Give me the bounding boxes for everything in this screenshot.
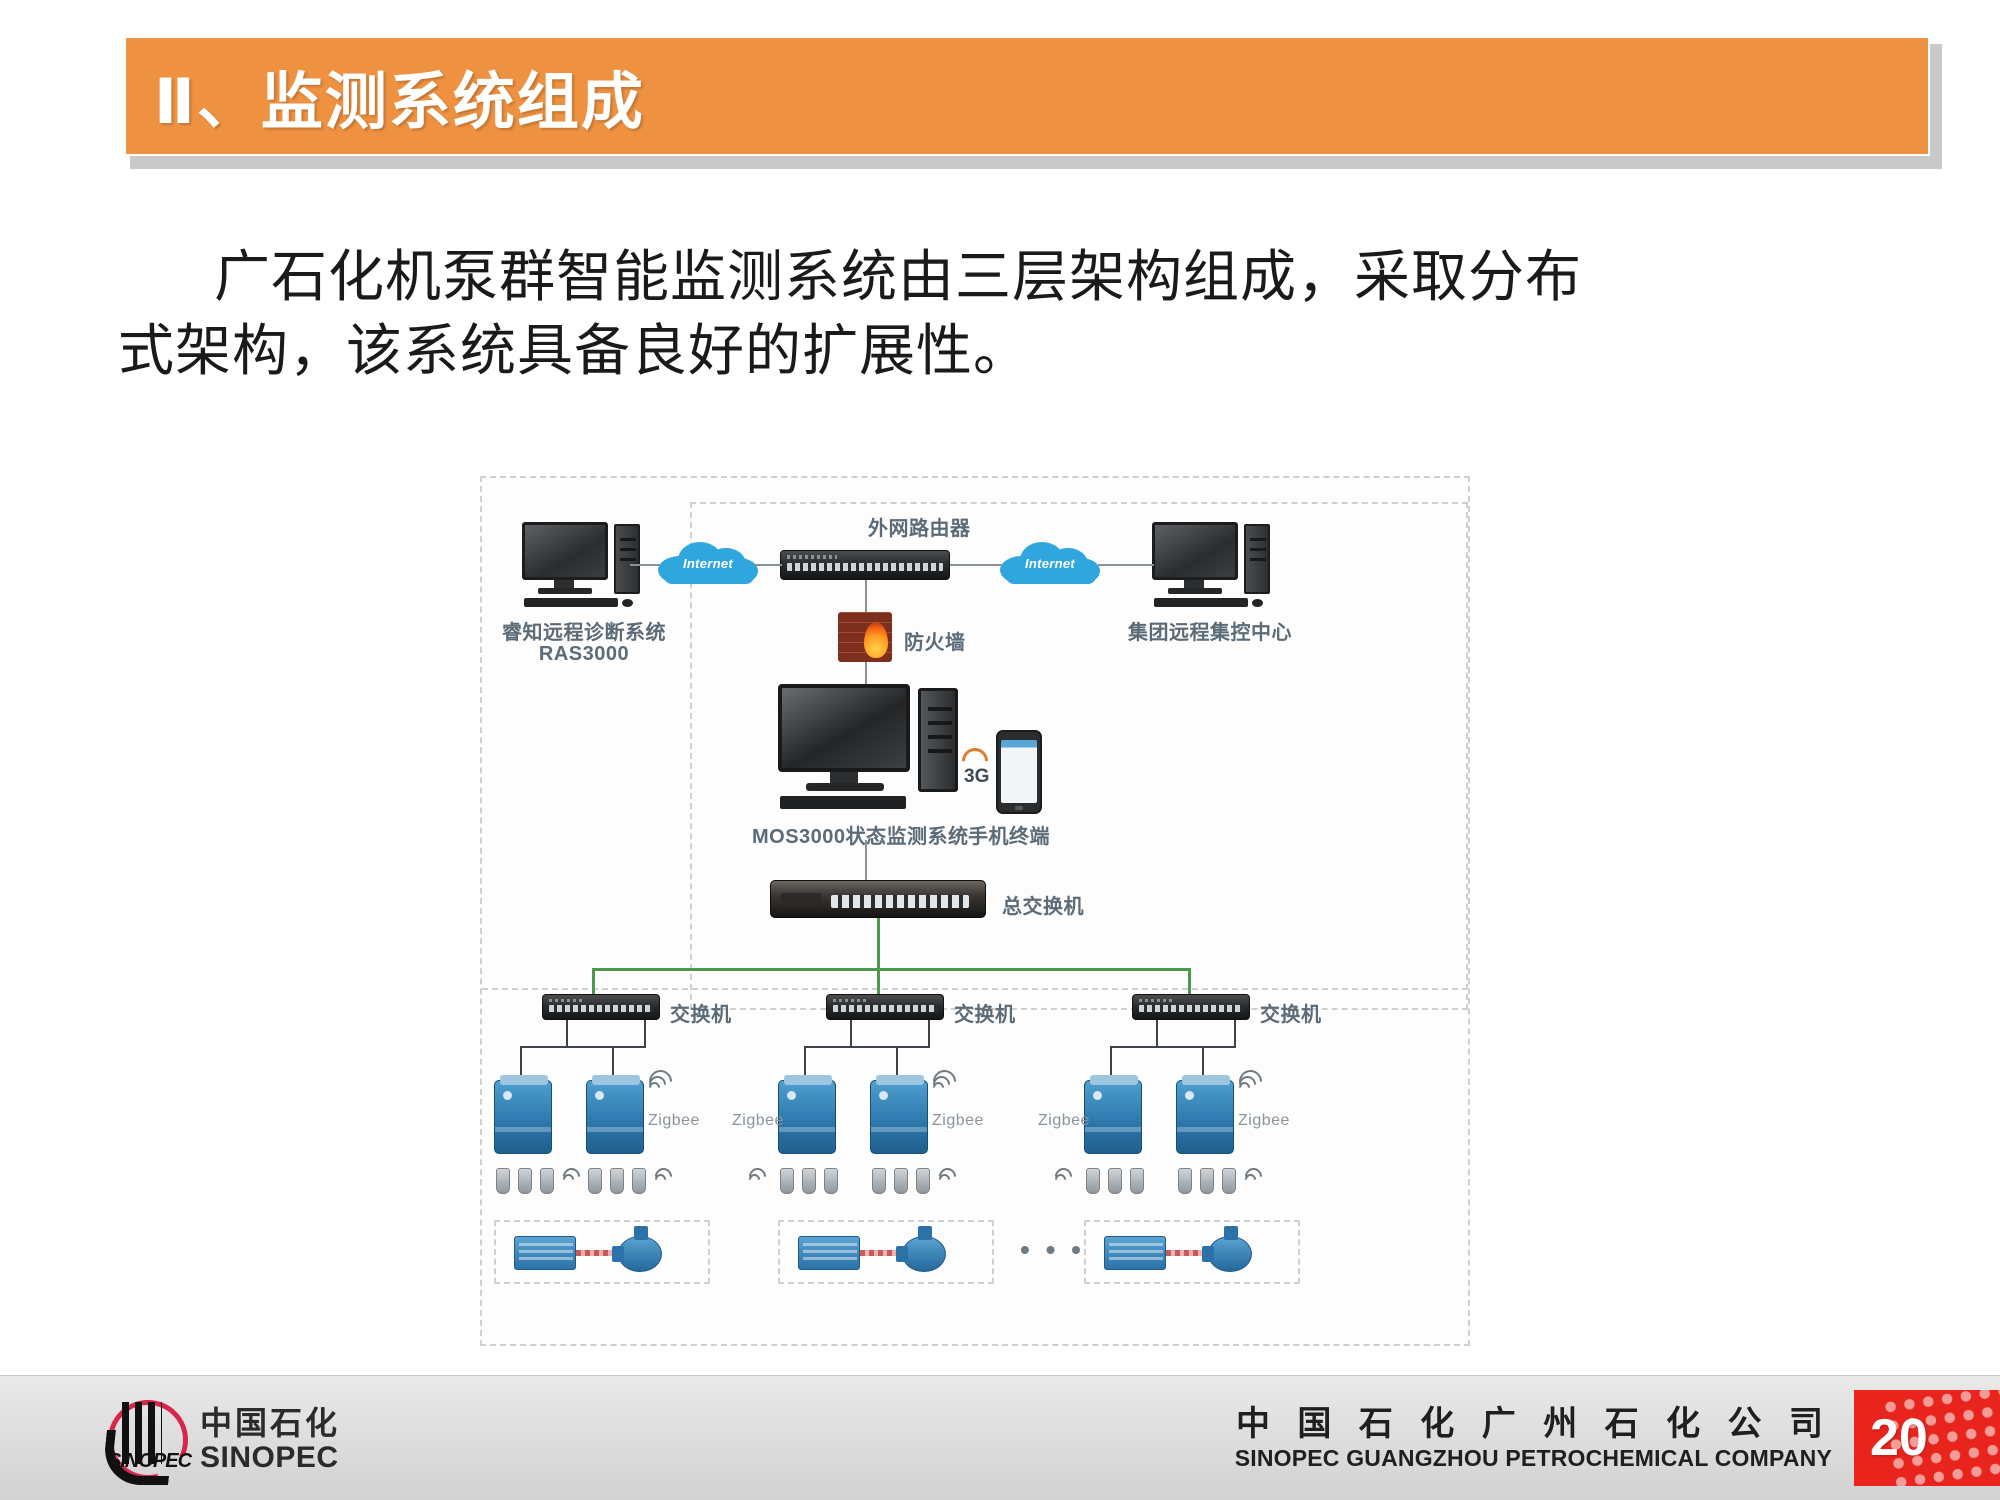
wifi-signal-icon: [748, 1166, 768, 1186]
vibration-sensor-icon: [1108, 1168, 1122, 1194]
vibration-sensor-icon: [872, 1168, 886, 1194]
label-zigbee-1: Zigbee: [648, 1112, 700, 1130]
label-branch-switch-1: 交换机: [670, 998, 732, 1027]
wifi-signal-icon: [1054, 1166, 1074, 1186]
internet-cloud-right-icon: Internet: [1000, 538, 1100, 584]
vibration-sensor-icon: [1130, 1168, 1144, 1194]
body-line-2: 式架构，该系统具备良好的扩展性。: [118, 319, 1030, 382]
sensor-gateway-2-icon: [586, 1080, 644, 1154]
sinopec-logo-icon: SINOPEC: [96, 1396, 188, 1484]
pump-shaft-icon: [576, 1250, 616, 1256]
pump-casing-icon: [1202, 1232, 1258, 1276]
computer-tower: [918, 688, 958, 792]
computer-tower: [1244, 524, 1270, 594]
body-line-1: 广石化机泵群智能监测系统由三层架构组成，采取分布: [214, 245, 1582, 308]
branch-link-3: [1188, 968, 1191, 996]
wifi-signal-icon: [654, 1166, 674, 1186]
monitor-base: [1168, 588, 1222, 594]
vibration-sensor-icon: [632, 1168, 646, 1194]
sensor-gateway-1-icon: [494, 1080, 552, 1154]
pump-casing-icon: [896, 1232, 952, 1276]
company-name-cn: 中 国 石 化 广 州 石 化 公 司: [1235, 1404, 1832, 1445]
switch2-node1-link: [804, 1046, 852, 1048]
pump-casing-icon: [612, 1232, 668, 1276]
mobile-phone-icon: [996, 730, 1042, 814]
wifi-signal-icon: [1238, 1074, 1258, 1094]
vibration-sensor-icon: [540, 1168, 554, 1194]
sensor-gateway-4-icon: [870, 1080, 928, 1154]
vibration-sensor-icon: [780, 1168, 794, 1194]
vibration-sensor-icon: [1178, 1168, 1192, 1194]
trunk-vertical-link: [877, 918, 880, 968]
branch-switch-3-icon: [1132, 994, 1250, 1020]
keyboard-icon: [780, 796, 906, 809]
branch-link-1: [592, 968, 595, 996]
monitor-screen: [522, 522, 608, 580]
label-zigbee-3: Zigbee: [932, 1112, 984, 1130]
monitor-screen: [778, 684, 910, 772]
firewall-icon: [838, 612, 892, 662]
wifi-signal-icon: [938, 1166, 958, 1186]
computer-tower: [614, 524, 640, 594]
wifi-signal-icon: [648, 1074, 668, 1094]
sinopec-brand-logo: SINOPEC 中国石化 SINOPEC: [96, 1392, 456, 1488]
pump-motor-icon: [798, 1236, 860, 1270]
main-switch-icon: [770, 880, 986, 918]
sinopec-logo-wordmark: SINOPEC: [108, 1450, 186, 1473]
mouse-icon: [622, 599, 633, 607]
vibration-sensor-icon: [496, 1168, 510, 1194]
trunk-horizontal-link: [592, 968, 1190, 971]
branch-link-2: [877, 968, 880, 996]
wifi-signal-icon: [932, 1074, 952, 1094]
company-name-block: 中 国 石 化 广 州 石 化 公 司 SINOPEC GUANGZHOU PE…: [1235, 1390, 1854, 1486]
phone-screen: [1001, 740, 1037, 803]
vibration-sensor-icon: [518, 1168, 532, 1194]
label-mobile-terminal: 手机终端: [968, 820, 1050, 849]
switch1-node1-link: [520, 1046, 568, 1048]
link-cloud-left-router: [754, 564, 782, 566]
footer-right-block: 中 国 石 化 广 州 石 化 公 司 SINOPEC GUANGZHOU PE…: [1235, 1390, 2000, 1486]
keyboard-icon: [1154, 598, 1248, 607]
branch-switch-1-icon: [542, 994, 660, 1020]
switch1-right-drop: [644, 1020, 646, 1048]
vibration-sensor-icon: [1086, 1168, 1100, 1194]
sensor-gateway-5-icon: [1084, 1080, 1142, 1154]
switch3-right-drop: [1234, 1020, 1236, 1048]
monitor-base: [538, 588, 592, 594]
label-3g: 3G: [964, 766, 989, 788]
link-cloud-right-pc: [1098, 564, 1154, 566]
pump-motor-icon: [1104, 1236, 1166, 1270]
phone-home-button: [1015, 806, 1023, 810]
label-zigbee-4: Zigbee: [1038, 1112, 1090, 1130]
link-router-cloud-right: [950, 564, 1002, 566]
label-internet-left: Internet: [658, 556, 758, 571]
system-architecture-diagram: 睿知远程诊断系统 RAS3000 Internet 外网路由器 Internet…: [480, 476, 1470, 1346]
monitor-screen: [1152, 522, 1238, 580]
label-ras3000-line1: 睿知远程诊断系统: [502, 616, 666, 645]
vibration-sensor-icon: [1222, 1168, 1236, 1194]
page-number-badge: 20: [1854, 1390, 2000, 1486]
switch3-node1-link: [1110, 1046, 1158, 1048]
wifi-signal-icon: [1244, 1166, 1264, 1186]
monitor-base: [806, 783, 884, 791]
label-firewall: 防火墙: [904, 626, 966, 655]
ellipsis-more-units: • • •: [1020, 1234, 1085, 1266]
wifi-signal-icon: [562, 1166, 582, 1186]
pump-unit-2: [778, 1220, 994, 1284]
label-internet-right: Internet: [1000, 556, 1100, 571]
page-title: Ⅱ、监测系统组成: [154, 51, 645, 141]
link-pc-left-cloud: [630, 564, 660, 566]
pump-unit-1: [494, 1220, 710, 1284]
title-banner: Ⅱ、监测系统组成: [124, 36, 1930, 156]
vibration-sensor-icon: [824, 1168, 838, 1194]
pump-motor-icon: [514, 1236, 576, 1270]
label-external-router: 外网路由器: [868, 512, 971, 541]
label-branch-switch-3: 交换机: [1260, 998, 1322, 1027]
switch2-left-drop: [850, 1020, 852, 1048]
mouse-icon: [1252, 599, 1263, 607]
pump-shaft-icon: [860, 1250, 900, 1256]
switch1-left-drop: [566, 1020, 568, 1048]
slide-title-banner: Ⅱ、监测系统组成: [124, 36, 1936, 161]
label-main-switch: 总交换机: [1002, 890, 1084, 919]
brand-text: 中国石化 SINOPEC: [200, 1406, 340, 1474]
switch1-bus: [566, 1046, 646, 1048]
sensor-gateway-6-icon: [1176, 1080, 1234, 1154]
diagram-lower-boundary: [482, 988, 1468, 1344]
brand-name-en: SINOPEC: [200, 1441, 340, 1474]
vibration-sensor-icon: [588, 1168, 602, 1194]
label-zigbee-5: Zigbee: [1238, 1112, 1290, 1130]
vibration-sensor-icon: [802, 1168, 816, 1194]
slide-footer: SINOPEC 中国石化 SINOPEC 中 国 石 化 广 州 石 化 公 司…: [0, 1375, 2000, 1500]
vibration-sensor-icon: [916, 1168, 930, 1194]
switch2-right-drop: [928, 1020, 930, 1048]
company-name-en: SINOPEC GUANGZHOU PETROCHEMICAL COMPANY: [1235, 1445, 1832, 1473]
label-mos3000: MOS3000状态监测系统: [752, 820, 969, 849]
switch3-bus: [1156, 1046, 1236, 1048]
label-branch-switch-2: 交换机: [954, 998, 1016, 1027]
label-group-control-center: 集团远程集控中心: [1128, 616, 1292, 645]
brand-name-cn: 中国石化: [200, 1406, 340, 1441]
pump-unit-3: [1084, 1220, 1300, 1284]
internet-cloud-left-icon: Internet: [658, 538, 758, 584]
label-ras3000-line2: RAS3000: [539, 643, 629, 666]
branch-switch-2-icon: [826, 994, 944, 1020]
switch2-bus: [850, 1046, 930, 1048]
vibration-sensor-icon: [610, 1168, 624, 1194]
vibration-sensor-icon: [1200, 1168, 1214, 1194]
switch3-left-drop: [1156, 1020, 1158, 1048]
page-number: 20: [1870, 1408, 1928, 1468]
external-router-icon: [780, 550, 950, 580]
body-paragraph: 广石化机泵群智能监测系统由三层架构组成，采取分布 式架构，该系统具备良好的扩展性…: [118, 240, 1908, 389]
label-zigbee-2: Zigbee: [732, 1112, 784, 1130]
sensor-gateway-3-icon: [778, 1080, 836, 1154]
vibration-sensor-icon: [894, 1168, 908, 1194]
pump-shaft-icon: [1166, 1250, 1206, 1256]
keyboard-icon: [524, 598, 618, 607]
link-router-firewall: [865, 580, 867, 616]
